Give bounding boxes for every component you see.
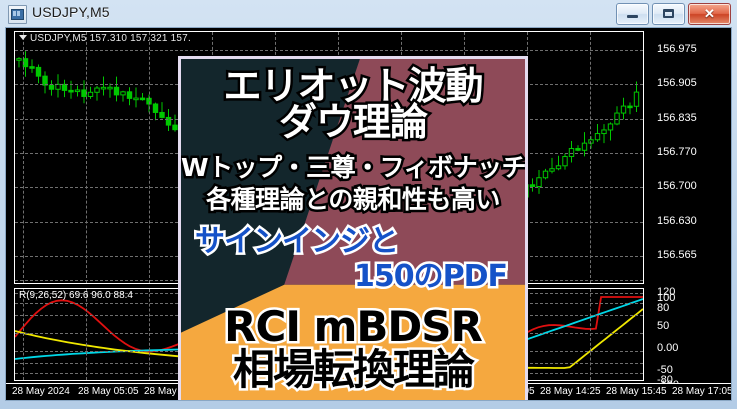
price-axis-label: 156.630	[657, 215, 697, 227]
time-axis-label: 28 May 15:45	[606, 386, 667, 397]
symbol-label: USDJPY,M5 157.310 157.321 157.	[19, 33, 191, 44]
candle-body	[543, 171, 547, 178]
candle-body	[576, 149, 580, 151]
grid-line-vertical	[149, 32, 150, 283]
minimize-icon	[627, 15, 638, 18]
time-axis-label: 28 May 2024	[12, 386, 70, 397]
chart-client-area[interactable]: USDJPY,M5 157.310 157.321 157. R(9,26,52…	[5, 27, 732, 401]
candle-body	[127, 92, 131, 99]
candle-body	[608, 124, 612, 130]
maximize-icon	[663, 9, 674, 18]
candle-body	[595, 134, 599, 140]
overlay-headline-2: ダウ理論	[181, 103, 525, 141]
candle-body	[153, 104, 157, 112]
grid-line-vertical	[590, 32, 591, 283]
price-axis-label: 156.835	[657, 112, 697, 124]
indicator-axis-label: 50	[657, 320, 669, 332]
candle-body	[140, 98, 144, 100]
indicator-axis-label: 80	[657, 302, 669, 314]
candle-body	[88, 92, 92, 96]
candle-body	[537, 178, 541, 187]
grid-line-vertical	[23, 32, 24, 283]
price-axis-label: 156.700	[657, 180, 697, 192]
indicator-label: R(9,26,52) 69.6 96.0 88.4	[19, 290, 133, 301]
indicator-axis[interactable]: 12010080500.00-50-80-100	[647, 286, 731, 384]
candle-body	[621, 106, 625, 113]
candle-body	[36, 67, 40, 76]
candle-body	[173, 125, 177, 130]
price-axis-label: 156.565	[657, 249, 697, 261]
grid-line-horizontal	[15, 50, 643, 51]
promo-overlay: エリオット波動 ダウ理論 Wトップ・三尊・フィボナッチ 各種理論との親和性も高い…	[178, 56, 528, 401]
candle-body	[634, 92, 638, 106]
mt4-application-window: USDJPY,M5 ✕ USDJPY,M5 157.310 157.321 15…	[0, 0, 737, 409]
candle-body	[75, 90, 79, 92]
close-icon: ✕	[689, 4, 730, 24]
candle-body	[160, 112, 164, 117]
candle-body	[582, 143, 586, 150]
candle-body	[556, 166, 560, 169]
candle-body	[30, 67, 34, 69]
candle-body	[602, 130, 606, 134]
candle-body	[101, 87, 105, 89]
mt4-chart-icon	[8, 5, 27, 24]
price-axis-label: 156.770	[657, 146, 697, 158]
candle-body	[49, 85, 53, 89]
candle-body	[56, 84, 60, 89]
price-axis-label: 156.905	[657, 77, 697, 89]
candle-body	[95, 88, 99, 92]
indicator-axis-label: 0.00	[657, 342, 678, 354]
candle-body	[108, 87, 112, 89]
candle-body	[121, 92, 125, 95]
overlay-text-group: エリオット波動 ダウ理論 Wトップ・三尊・フィボナッチ 各種理論との親和性も高い…	[181, 59, 525, 401]
close-button[interactable]: ✕	[688, 3, 731, 25]
overlay-footer-2: 相場転換理論	[181, 349, 525, 391]
candle-body	[114, 87, 118, 95]
grid-line-vertical	[86, 32, 87, 283]
candle-body	[550, 169, 554, 171]
window-controls: ✕	[616, 3, 731, 25]
chevron-down-icon[interactable]	[19, 35, 27, 40]
time-axis-label: 28 May 14:25	[540, 386, 601, 397]
price-axis-label: 156.975	[657, 43, 697, 55]
overlay-blue-2: 150のPDF	[181, 262, 525, 292]
window-titlebar: USDJPY,M5 ✕	[0, 0, 737, 28]
candle-body	[69, 90, 73, 92]
candle-body	[563, 157, 567, 166]
maximize-button[interactable]	[652, 3, 685, 25]
overlay-footer-1: RCI mBDSR	[181, 306, 525, 348]
overlay-subline-1: Wトップ・三尊・フィボナッチ	[181, 155, 525, 180]
minimize-button[interactable]	[616, 3, 649, 25]
window-title: USDJPY,M5	[32, 4, 110, 20]
candle-body	[17, 59, 21, 61]
time-axis-label: 28 May 17:05	[672, 386, 732, 397]
price-axis[interactable]: 156.975156.905156.835156.770156.700156.6…	[647, 31, 731, 284]
candle-body	[134, 98, 138, 100]
candle-body	[62, 84, 66, 90]
overlay-subline-2: 各種理論との親和性も高い	[181, 187, 525, 212]
time-axis-label: 28 May 05:05	[78, 386, 139, 397]
candle-body	[628, 106, 632, 108]
overlay-blue-1: サインインジと	[181, 227, 525, 257]
